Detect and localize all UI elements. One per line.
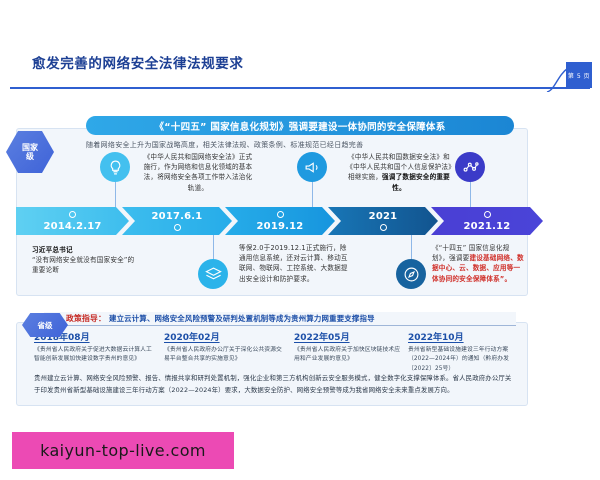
hexagon-badge-province: 省级 (22, 313, 68, 337)
connector-stem (312, 180, 313, 210)
slide-canvas: 愈发完善的网络安全法律法规要求 第 5 页 国家 级 《“十四五” 国家信息化规… (0, 0, 600, 480)
timeline-date-3: 2021 (369, 211, 398, 222)
timeline-note-0: 习近平总书记 “没有网络安全就没有国家安全”的重要论断 (32, 245, 138, 276)
province-summary: 贵州建立云计算、网络安全风险预警、报告、情报共享和研判处置机制，强化企业和第三方… (34, 372, 514, 396)
network-nodes-icon (455, 152, 485, 182)
timeline-note-2: 等保2.0于2019.12.1正式施行，除通用信息系统，还对云计算、移动互联网、… (239, 243, 353, 284)
province-entry-3[interactable]: 2022年10月 贵州省新型基础设施建设三年行动方案（2022—2024年）的通… (408, 330, 520, 374)
national-banner: 《“十四五” 国家信息化规划》强调要建设一体协同的安全保障体系 (86, 116, 514, 135)
connector-stem (411, 232, 412, 260)
province-body-0: 《贵州省人民政府关于促进大数据云计算人工智能创新发展加快建设数字贵州的意见》 (34, 346, 154, 365)
connector-stem (115, 180, 116, 210)
timeline-note-3-highlight: 强调了数据安全的重要性。 (382, 173, 450, 191)
timeline-segment-4[interactable]: 2021.12 (431, 207, 543, 235)
timeline-segment-3[interactable]: 2021 (328, 207, 438, 235)
timeline-note-2-body: 等保2.0于2019.12.1正式施行，除通用信息系统，还对云计算、移动互联网、… (239, 244, 348, 283)
province-date-3: 2022年10月 (408, 330, 520, 343)
province-body-3: 贵州省新型基础设施建设三年行动方案（2022—2024年）的通知（黔府办发〔20… (408, 346, 520, 374)
timeline-track: 2014.2.17 2017.6.1 2019.12 2021 2021.12 (16, 207, 528, 235)
header-divider (10, 87, 590, 89)
hexagon-national-line1: 国家 (22, 143, 38, 152)
timeline-segment-1[interactable]: 2017.6.1 (122, 207, 232, 235)
timeline-date-1: 2017.6.1 (152, 211, 203, 222)
province-entry-2[interactable]: 2022年05月 《贵州省人民政府关于加快区块链技术应用和产业发展的意见》 (294, 330, 404, 365)
watermark-text: kaiyun-top-live.com (40, 441, 206, 460)
timeline-dot (484, 211, 491, 218)
province-date-2: 2022年05月 (294, 330, 404, 343)
timeline-dot (277, 211, 284, 218)
policy-guidance-value: 建立云计算、网络安全风险预警及研判处置机制等成为贵州算力网重要支撑指导 (109, 313, 375, 324)
site-watermark: kaiyun-top-live.com (12, 432, 234, 469)
page-number-badge: 第 5 页 (566, 62, 592, 88)
page-title: 愈发完善的网络安全法律法规要求 (32, 52, 244, 72)
megaphone-icon (297, 152, 327, 182)
timeline-note-0-body: “没有网络安全就没有国家安全”的重要论断 (32, 255, 138, 275)
province-entry-1[interactable]: 2020年02月 《贵州省人民政府办公厅关于深化公共资源交易平台整合共享的实施意… (164, 330, 284, 365)
timeline-note-0-title: 习近平总书记 (32, 245, 138, 255)
timeline-dot (69, 211, 76, 218)
connector-stem (470, 180, 471, 210)
hexagon-national-line2: 级 (26, 152, 34, 161)
timeline-segment-0[interactable]: 2014.2.17 (16, 207, 129, 235)
lightbulb-icon (100, 152, 130, 182)
province-body-2: 《贵州省人民政府关于加快区块链技术应用和产业发展的意见》 (294, 346, 404, 365)
timeline-note-3: 《中华人民共和国数据安全法》和《中华人民共和国个人信息保护法》相继实施，强调了数… (345, 152, 453, 193)
policy-guidance-key: 政策指导： (66, 313, 106, 324)
timeline-date-4: 2021.12 (464, 221, 511, 232)
layers-icon (198, 259, 228, 289)
timeline-note-1-body: 《中华人民共和国网络安全法》正式施行，作为网络和信息化领域的基本法，将网络安全各… (144, 153, 253, 192)
timeline-note-4: 《“十四五” 国家信息化规划》，强调要建设基础网络、数据中心、云、数据、应用等一… (432, 243, 526, 284)
policy-guidance-bar: 政策指导： 建立云计算、网络安全风险预警及研判处置机制等成为贵州算力网重要支撑指… (44, 312, 516, 326)
timeline-date-2: 2019.12 (257, 221, 304, 232)
province-date-1: 2020年02月 (164, 330, 284, 343)
hexagon-province-label: 省级 (38, 320, 53, 331)
timeline-dot (174, 224, 181, 231)
timeline-dot (380, 224, 387, 231)
slide-header: 愈发完善的网络安全法律法规要求 (0, 46, 600, 96)
national-subtitle: 随着网络安全上升为国家战略高度，相关法律法规、政策条例、标准规范已经日趋完善 (86, 140, 526, 150)
connector-stem (213, 232, 214, 260)
province-body-1: 《贵州省人民政府办公厅关于深化公共资源交易平台整合共享的实施意见》 (164, 346, 284, 365)
timeline-note-1: 《中华人民共和国网络安全法》正式施行，作为网络和信息化领域的基本法，将网络安全各… (143, 152, 253, 193)
timeline-date-0: 2014.2.17 (43, 221, 101, 232)
timeline-segment-2[interactable]: 2019.12 (225, 207, 335, 235)
compass-icon (396, 259, 426, 289)
